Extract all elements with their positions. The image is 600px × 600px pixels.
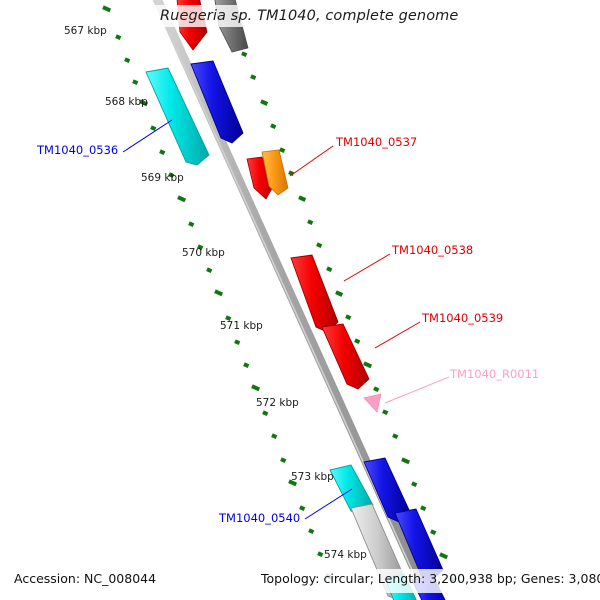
leader-line-TM1040_0537 [290, 146, 333, 176]
ruler-tick-label-571: 571 kbp [220, 320, 263, 332]
genome-map-canvas[interactable]: 567 kbp 568 kbp 569 kbp 570 kbp 571 kbp … [0, 0, 600, 600]
leader-line-TM1040_R0011 [385, 377, 449, 403]
leader-line-TM1040_0540 [305, 489, 352, 519]
leader-line-TM1040_0536 [123, 120, 172, 152]
leader-line-TM1040_0539 [375, 322, 420, 348]
genome-diagram [0, 0, 600, 600]
ruler-ticks-inner [231, 28, 455, 581]
gene-TM1040_R0011[interactable] [364, 394, 381, 412]
gene-label-TM1040_R0011[interactable]: TM1040_R0011 [450, 367, 539, 381]
ruler-tick-label-570: 570 kbp [182, 247, 225, 259]
accession-text: Accession: NC_008044 [14, 571, 156, 586]
ruler-tick-label-572: 572 kbp [256, 397, 299, 409]
ruler-tick-label-573: 573 kbp [291, 471, 334, 483]
gene-label-TM1040_0537[interactable]: TM1040_0537 [336, 135, 417, 149]
genome-stats-text: Topology: circular; Length: 3,200,938 bp… [261, 571, 600, 586]
ruler-tick-label-567: 567 kbp [64, 25, 107, 37]
ruler-tick-label-569: 569 kbp [141, 172, 184, 184]
page-title: Ruegeria sp. TM1040, complete genome [160, 6, 460, 26]
gene-label-TM1040_0538[interactable]: TM1040_0538 [392, 243, 473, 257]
gene-label-TM1040_0536[interactable]: TM1040_0536 [37, 143, 118, 157]
gene-label-TM1040_0540[interactable]: TM1040_0540 [219, 511, 300, 525]
leader-line-TM1040_0538 [344, 254, 390, 281]
ruler-tick-label-568: 568 kbp [105, 96, 148, 108]
ruler-tick-label-574: 574 kbp [324, 549, 367, 561]
gene-label-TM1040_0539[interactable]: TM1040_0539 [422, 311, 503, 325]
